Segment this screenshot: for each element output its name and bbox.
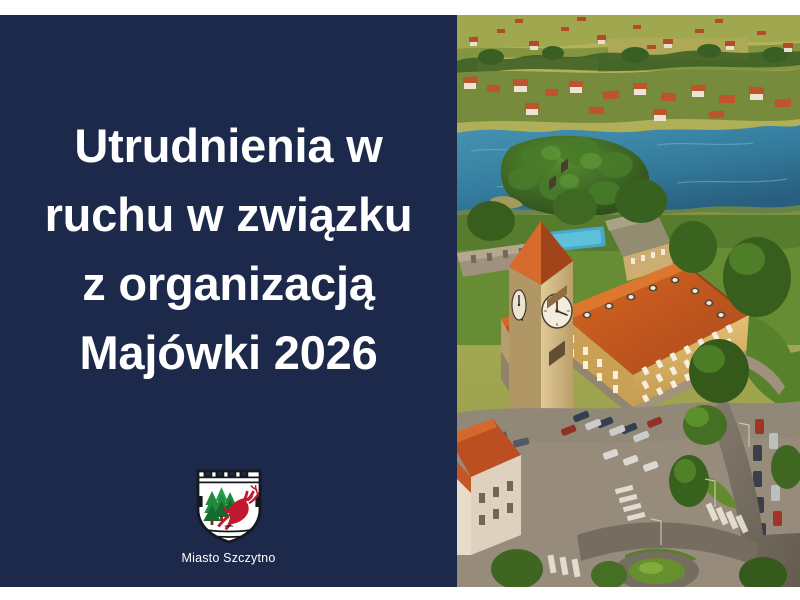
- coat-of-arms-szczytno-icon: [190, 465, 268, 545]
- aerial-photo: [457, 15, 800, 587]
- headline-line-3: z organizacją: [0, 249, 457, 318]
- banner-canvas: Utrudnienia w ruchu w związku z organiza…: [0, 0, 800, 600]
- headline: Utrudnienia w ruchu w związku z organiza…: [0, 111, 457, 387]
- text-panel: Utrudnienia w ruchu w związku z organiza…: [0, 15, 457, 587]
- headline-line-2: ruchu w związku: [0, 180, 457, 249]
- graphic-band: Utrudnienia w ruchu w związku z organiza…: [0, 15, 800, 587]
- headline-line-1: Utrudnienia w: [0, 111, 457, 180]
- logo-caption: Miasto Szczytno: [181, 551, 275, 565]
- logo-lockup: Miasto Szczytno: [0, 465, 457, 565]
- headline-line-4: Majówki 2026: [0, 318, 457, 387]
